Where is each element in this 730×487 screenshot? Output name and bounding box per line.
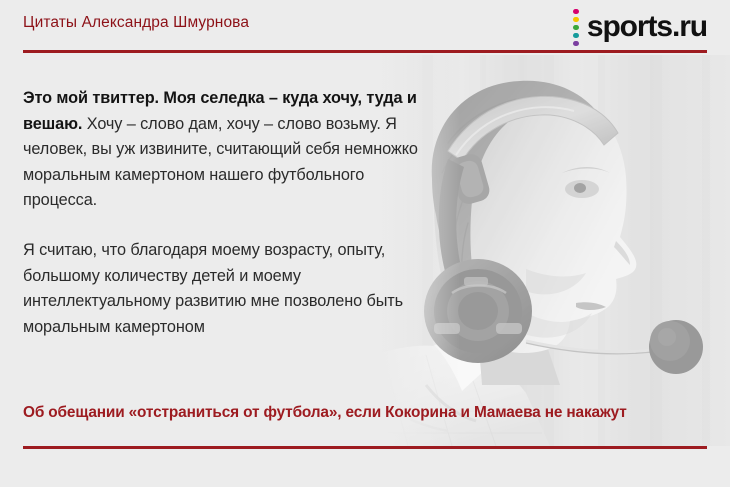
logo-dots <box>573 8 579 47</box>
header: Цитаты Александра Шмурнова sports.ru <box>0 0 730 55</box>
footer-divider <box>23 446 707 449</box>
quote-body: Это мой твиттер. Моя селедка – куда хочу… <box>23 86 423 340</box>
dot-magenta-icon <box>573 9 579 15</box>
quote-card: Цитаты Александра Шмурнова sports.ru Это… <box>0 0 730 487</box>
dot-teal-icon <box>573 33 579 39</box>
header-divider <box>23 50 707 53</box>
dot-purple-icon <box>573 41 579 47</box>
quote-paragraph-1: Это мой твиттер. Моя селедка – куда хочу… <box>23 86 423 214</box>
quote-rest: Хочу – слово дам, хочу – слово возьму. Я… <box>23 115 418 210</box>
quote-paragraph-2: Я считаю, что благодаря моему возрасту, … <box>23 238 443 340</box>
page-title: Цитаты Александра Шмурнова <box>23 14 249 32</box>
footer-caption: Об обещании «отстраниться от футбола», е… <box>23 404 713 422</box>
sports-ru-logo[interactable]: sports.ru <box>573 10 707 44</box>
dot-green-icon <box>573 25 579 31</box>
logo-wordmark: sports.ru <box>587 12 707 42</box>
dot-yellow-icon <box>573 17 579 23</box>
